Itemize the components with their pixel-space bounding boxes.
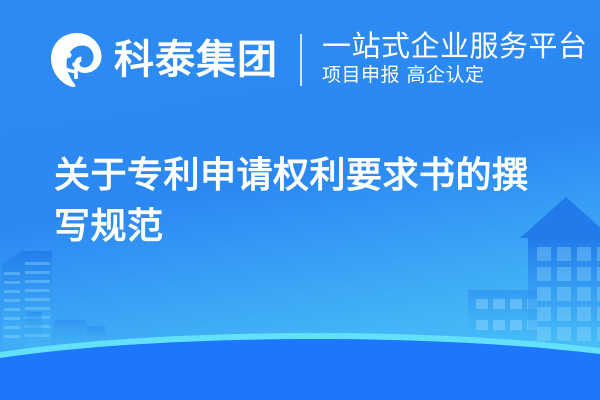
horizon-curve [0,333,600,400]
tagline-sub: 项目申报 高企认定 [322,62,588,90]
brand-name: 科泰集团 [114,40,278,80]
tagline-block: 一站式企业服务平台 项目申报 高企认定 [322,31,588,90]
header-divider [300,34,302,86]
brand-header: 科泰集团 一站式企业服务平台 项目申报 高企认定 [48,24,588,96]
building-left-block [26,312,105,348]
building-left-tower [2,251,52,348]
page-title: 关于专利申请权利要求书的撰写规范 [54,150,554,252]
tagline-main: 一站式企业服务平台 [322,31,588,62]
building-right-block [468,290,540,348]
ketai-oval-logo-icon [48,31,106,89]
article-cover-banner: 科泰集团 一站式企业服务平台 项目申报 高企认定 关于专利申请权利要求书的撰写规… [0,0,600,400]
ground-band [0,339,600,400]
